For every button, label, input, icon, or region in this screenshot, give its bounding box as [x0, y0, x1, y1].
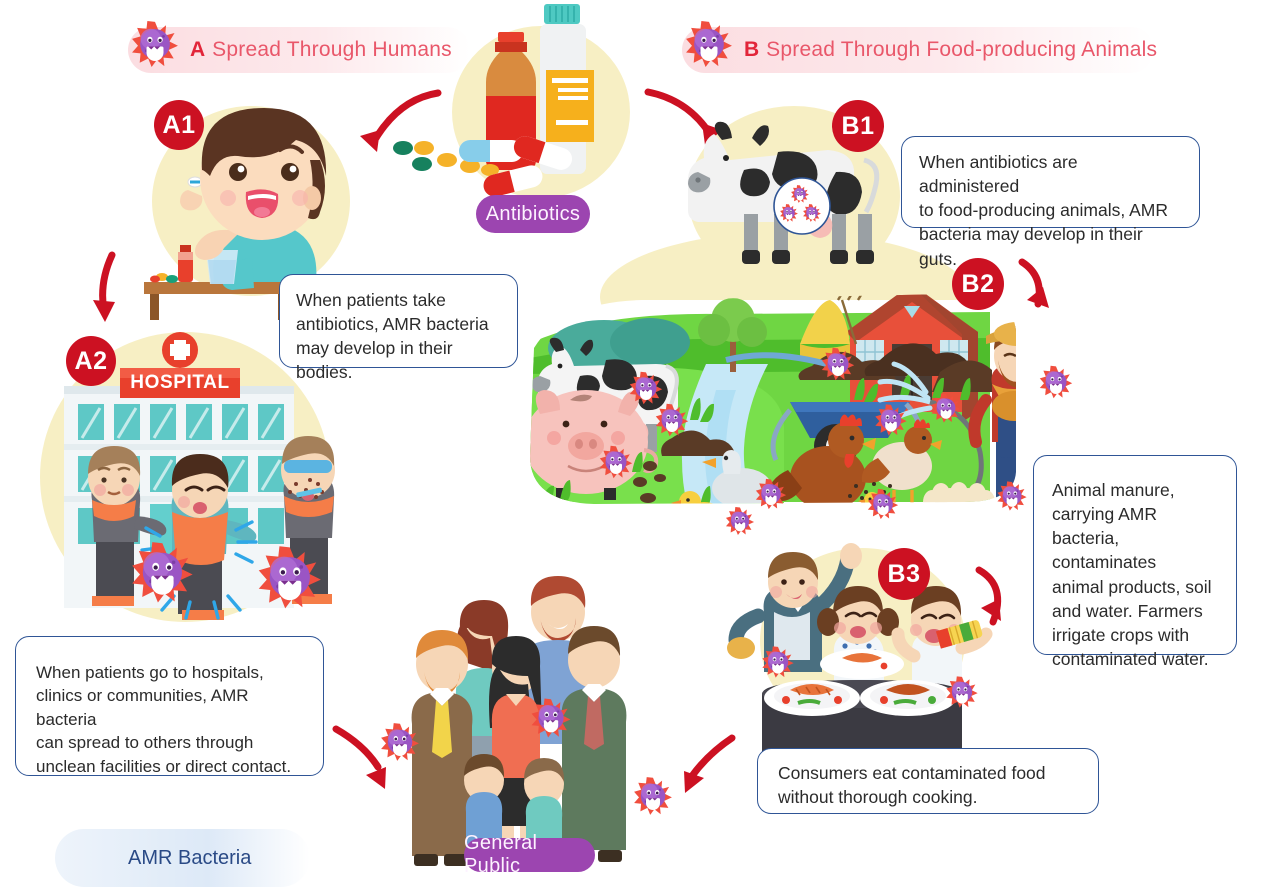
- farm-wheelbarrow: [773, 402, 920, 468]
- callout-b2-line-6: irrigate crops with: [1052, 623, 1218, 647]
- callout-b1-line-2: to food-producing animals, AMR: [919, 198, 1182, 222]
- water-spray: [880, 364, 930, 422]
- step-badge-a2: A2: [66, 336, 116, 386]
- callout-b2-line-3: bacteria, contaminates: [1052, 526, 1218, 574]
- callout-b1: When antibiotics are administered to foo…: [901, 136, 1200, 228]
- callout-b2-line-1: Animal manure,: [1052, 478, 1218, 502]
- amr-bacteria: [532, 699, 571, 738]
- amr-bacteria: [756, 479, 786, 509]
- legend-amr-label: AMR Bacteria: [128, 847, 251, 870]
- callout-a1-line-3: may develop in their bodies.: [296, 336, 501, 384]
- infographic-canvas: A Spread Through Humans B Spread Through…: [0, 0, 1269, 887]
- callout-a1-line-2: antibiotics, AMR bacteria: [296, 312, 501, 336]
- step-badge-b3: B3: [878, 548, 930, 600]
- illustration-general-public: [381, 576, 672, 868]
- callout-b3-line-1: Consumers eat contaminated food: [778, 761, 1078, 785]
- step-badge-b1: B1: [832, 100, 884, 152]
- arrow-b3-to-public: [684, 738, 732, 793]
- farm-chick: [858, 492, 892, 522]
- amr-bacteria: [1040, 366, 1072, 398]
- callout-b2-line-5: and water. Farmers: [1052, 599, 1218, 623]
- callout-a1-line-1: When patients take: [296, 288, 501, 312]
- section-header-a: A Spread Through Humans: [128, 27, 470, 73]
- farm-chicken-1: [768, 414, 876, 524]
- bread-roll: [727, 637, 755, 659]
- amr-bacteria: [634, 777, 672, 815]
- blob-b2-sky: [600, 232, 970, 362]
- label-antibiotics: Antibiotics: [476, 195, 590, 233]
- arrow-b2-to-b3: [979, 570, 1001, 622]
- callout-b1-line-3: bacteria may develop in their guts.: [919, 222, 1182, 270]
- step-badge-b2: B2: [952, 258, 1004, 310]
- blob-pills: [452, 26, 630, 198]
- farm-duckling: [671, 491, 724, 530]
- callout-a2-line-2: clinics or communities, AMR bacteria: [36, 684, 303, 731]
- farm-egg-basket: [916, 482, 998, 540]
- section-a-title: Spread Through Humans: [212, 38, 452, 62]
- arrow-pills-to-b1: [648, 92, 722, 145]
- farm-fish: [716, 509, 772, 531]
- amr-bacteria: [600, 446, 632, 478]
- callout-b2-line-2: carrying AMR: [1052, 502, 1218, 526]
- callout-b2-line-4: animal products, soil: [1052, 575, 1218, 599]
- amr-bacteria: [656, 404, 688, 436]
- section-header-b: B Spread Through Food-producing Animals: [682, 27, 1154, 73]
- callout-a1: When patients take antibiotics, AMR bact…: [279, 274, 518, 368]
- amr-bacteria: [868, 489, 898, 519]
- farm-cow: [532, 338, 678, 452]
- amr-bacteria: [381, 723, 419, 761]
- farm-chicken-2: [862, 419, 942, 504]
- label-general-public: General Public: [464, 838, 595, 872]
- callout-a2-line-3: can spread to others through: [36, 731, 303, 754]
- arrow-pills-to-a1: [360, 93, 438, 152]
- callout-b2: Animal manure, carrying AMR bacteria, co…: [1033, 455, 1237, 655]
- legend-amr-bacteria: AMR Bacteria: [55, 829, 310, 887]
- callout-a2-line-1: When patients go to hospitals,: [36, 661, 303, 684]
- section-b-letter: B: [744, 38, 759, 62]
- amr-bacteria: [997, 481, 1026, 510]
- arrow-a2-to-public: [336, 729, 386, 789]
- amr-bacteria: [931, 393, 960, 422]
- farm-goose: [702, 450, 772, 508]
- callout-a2-line-4: unclean facilities or direct contact.: [36, 755, 303, 778]
- step-badge-a1: A1: [154, 100, 204, 150]
- section-b-title: Spread Through Food-producing Animals: [766, 38, 1157, 62]
- section-a-letter: A: [190, 38, 205, 62]
- callout-b1-line-1: When antibiotics are administered: [919, 150, 1182, 198]
- callout-a2: When patients go to hospitals, clinics o…: [15, 636, 324, 776]
- callout-b2-line-7: contaminated water.: [1052, 647, 1218, 671]
- arrow-a1-to-a2: [93, 255, 115, 322]
- callout-b3-line-2: without thorough cooking.: [778, 785, 1078, 809]
- hospital-sign-text: HOSPITAL: [120, 370, 240, 396]
- blob-b3: [760, 548, 965, 733]
- amr-bacteria: [726, 507, 754, 535]
- callout-b3: Consumers eat contaminated food without …: [757, 748, 1099, 814]
- farm-pig: [524, 390, 656, 500]
- amr-bacteria: [630, 372, 662, 404]
- amr-bacteria: [875, 404, 906, 435]
- chicken-feed: [848, 482, 892, 500]
